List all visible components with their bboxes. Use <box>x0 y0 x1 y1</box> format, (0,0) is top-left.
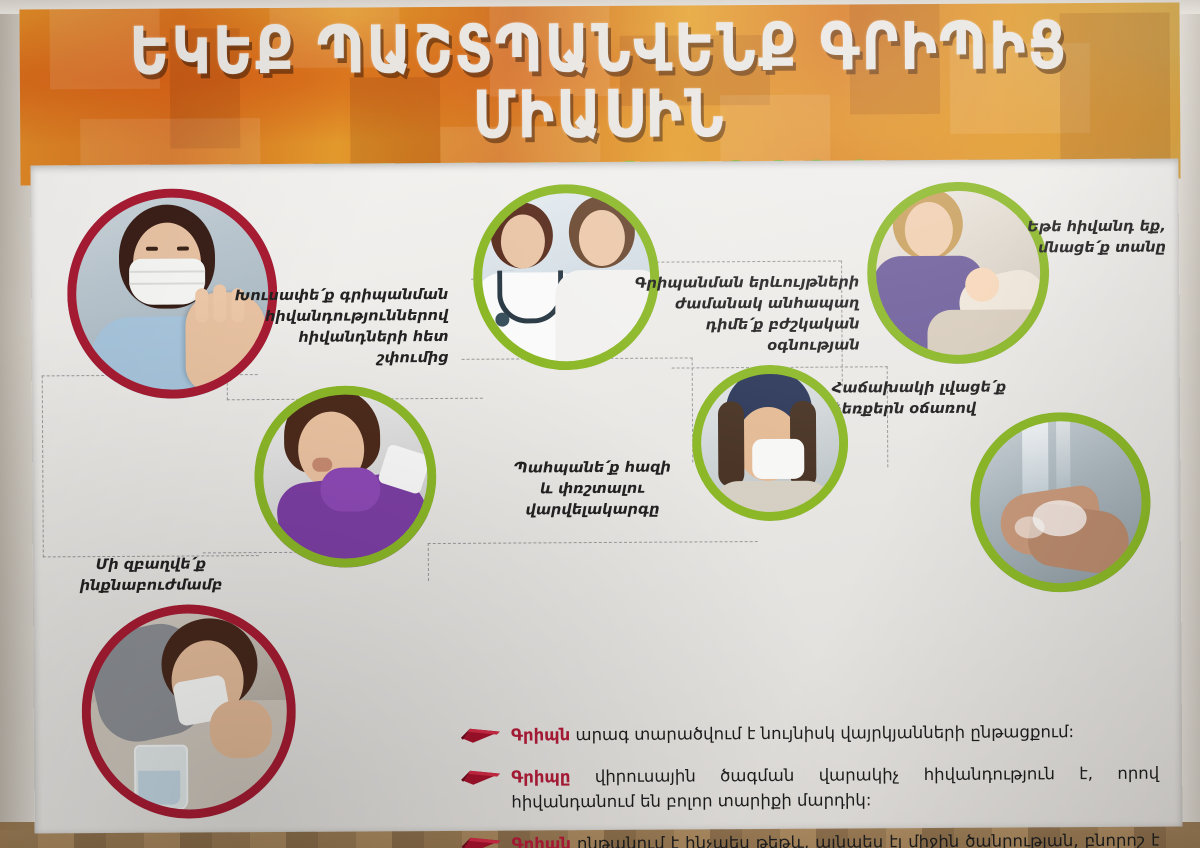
dart-bullet-icon <box>459 767 501 784</box>
tip-photo-cough-into-elbow <box>254 385 437 568</box>
ring-red <box>81 604 296 819</box>
flu-fact-text: արագ տարածվում է նույնիսկ վայրկյանների ը… <box>570 722 1074 744</box>
tip-photo-cough-etiquette <box>692 364 849 521</box>
flu-facts-list: Գրիպն արագ տարածվում է նույնիսկ վայրկյան… <box>459 719 1160 848</box>
caption-stay-home: Եթե հիվանդ եք, մնացե՛ք տանը <box>986 217 1166 260</box>
caption-avoid-contact: Խուսափե՛ք գրիպանման հիվանդություններով հ… <box>226 285 449 370</box>
ring-green <box>254 385 437 568</box>
dart-bullet-icon <box>459 726 501 743</box>
flu-fact-item: Գրիպը վիրուսային ծագման վարակիչ հիվանդու… <box>459 760 1159 815</box>
poster-body-sheet: Խուսափե՛ք գրիպանման հիվանդություններով հ… <box>30 158 1182 833</box>
caption-cough-etiquette: Պահպանե՛ք հազի և փռշտալու վարվելակարգը <box>487 457 697 521</box>
photograph-of-wall-poster: ԵԿԵՔ ՊԱՇՏՊԱՆՎԵՆՔ ԳՐԻՊԻՑ ՄԻԱՍԻՆ ԵՎ ԼԻՆԵՆՔ… <box>0 0 1200 848</box>
connector-line-bullets-top <box>428 541 758 544</box>
caption-see-doctor: Գրիպանման երևույթների ժամանակ անհապաղ դի… <box>631 272 860 357</box>
flu-prevention-poster: ԵԿԵՔ ՊԱՇՏՊԱՆՎԵՆՔ ԳՐԻՊԻՑ ՄԻԱՍԻՆ ԵՎ ԼԻՆԵՆՔ… <box>9 0 1192 840</box>
ring-green <box>970 412 1151 593</box>
flu-fact-keyword: Գրիպը <box>511 767 570 786</box>
flu-fact-text: վիրուսային ծագման վարակիչ հիվանդություն … <box>511 763 1159 812</box>
poster-header-band <box>19 2 1180 185</box>
flu-fact-keyword: Գրիպն <box>511 725 570 744</box>
dart-bullet-icon <box>460 834 502 848</box>
caption-no-self-medication: Մի զբաղվե՛ք ինքնաբուժմամբ <box>51 554 251 597</box>
ring-green <box>867 181 1050 364</box>
flu-fact-keyword: Գրիպն <box>512 834 571 848</box>
flu-fact-text: ընթանում է ինչպես թեթև, այնպես էլ միջին … <box>512 830 1160 848</box>
ring-green <box>692 364 849 521</box>
connector-box-left <box>42 374 259 557</box>
tip-photo-wash-hands <box>970 412 1151 593</box>
flu-fact-item: Գրիպն ընթանում է ինչպես թեթև, այնպես էլ … <box>460 827 1160 848</box>
tip-photo-no-self-medication <box>81 604 296 819</box>
tip-photo-stay-home <box>867 181 1050 364</box>
caption-wash-hands: Հաճախակի լվացե՛ք ձեռքերն օճառով <box>832 377 1052 420</box>
connector-box-2 <box>462 357 694 463</box>
flu-fact-item: Գրիպն արագ տարածվում է նույնիսկ վայրկյան… <box>459 719 1159 749</box>
